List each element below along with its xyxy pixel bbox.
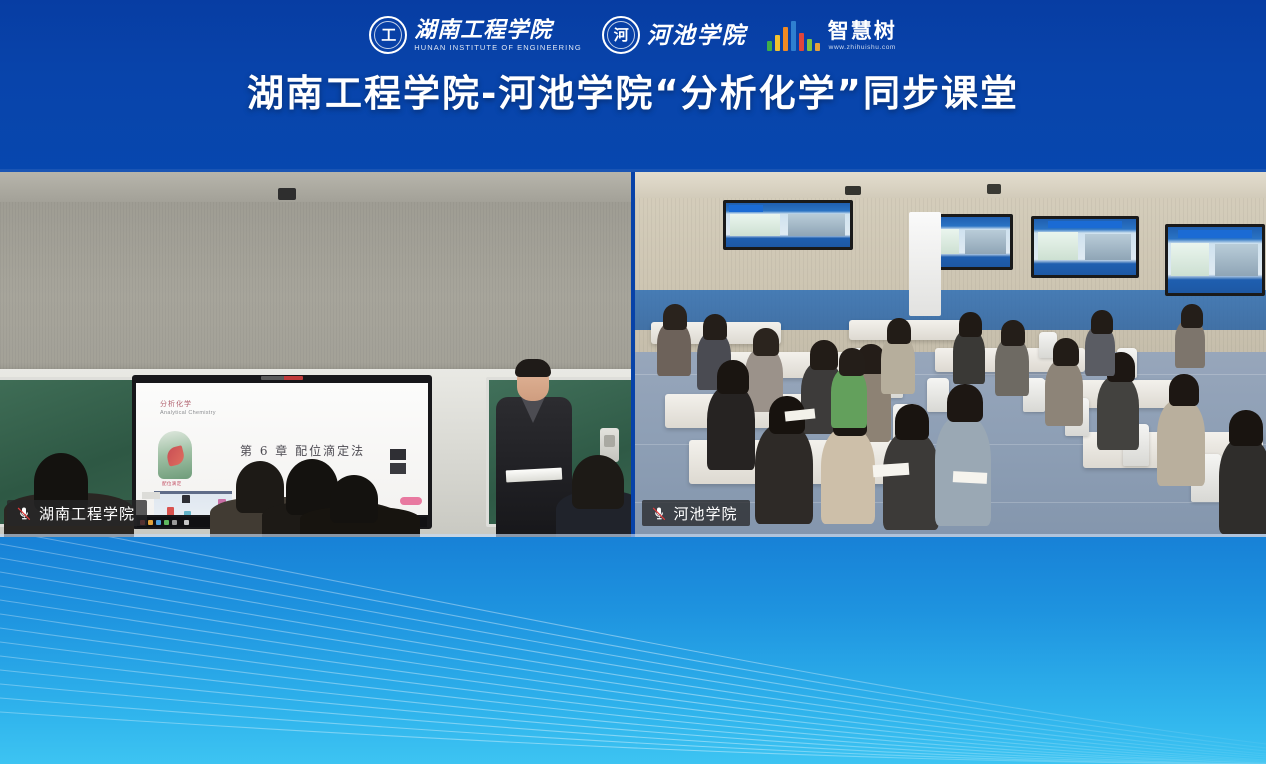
video-pane-hechi[interactable]: 河池学院 xyxy=(635,172,1266,537)
zhihuishu-url: www.zhihuishu.com xyxy=(829,44,896,51)
hechi-university-seal-glyph: 河 xyxy=(614,28,628,43)
hechi-university-seal-icon: 河 xyxy=(602,16,640,54)
student-head xyxy=(1229,410,1263,446)
slide-pill-badge xyxy=(400,497,422,505)
student-head xyxy=(1091,310,1113,334)
student-body xyxy=(995,338,1029,396)
student-body xyxy=(1097,376,1139,450)
student-body xyxy=(1157,400,1205,486)
wall-display-4 xyxy=(1165,224,1265,296)
student-body xyxy=(881,336,915,394)
student-head xyxy=(810,340,838,370)
student-body xyxy=(953,330,985,384)
broadcast-stage: 工 湖南工程学院 HUNAN INSTITUTE OF ENGINEERING … xyxy=(0,0,1266,764)
discussion-classroom xyxy=(635,172,1266,537)
slide-course-name-cn: 分析化学 xyxy=(160,399,192,409)
source-label-hechi-text: 河池学院 xyxy=(674,503,738,524)
ceiling-speaker-icon xyxy=(987,184,1001,194)
hunan-institute-seal-icon: 工 xyxy=(369,16,407,54)
logo-zhihuishu: 智慧树 www.zhihuishu.com xyxy=(767,20,897,51)
page-header: 工 湖南工程学院 HUNAN INSTITUTE OF ENGINEERING … xyxy=(0,0,1266,172)
student-body xyxy=(755,424,813,524)
student-body xyxy=(1045,360,1083,426)
source-label-hunan: 湖南工程学院 xyxy=(7,500,147,526)
student-body xyxy=(1219,438,1266,534)
worksheet-paper xyxy=(952,471,987,484)
student-head xyxy=(1169,374,1199,406)
zhihuishu-name-cn: 智慧树 xyxy=(828,20,897,41)
audience-head-4 xyxy=(330,475,378,523)
ceiling-strip xyxy=(0,172,632,202)
wall-display-1 xyxy=(723,200,853,250)
classroom-ceiling xyxy=(635,172,1266,198)
slide-ui-badge-2 xyxy=(390,463,406,474)
worksheet-paper xyxy=(872,463,909,477)
student-head xyxy=(663,304,687,330)
logo-bar: 工 湖南工程学院 HUNAN INSTITUTE OF ENGINEERING … xyxy=(0,11,1266,59)
source-label-hechi: 河池学院 xyxy=(642,500,750,526)
student-body xyxy=(657,322,691,376)
slide-course-name-en: Analytical Chemistry xyxy=(160,410,216,416)
mobile-whiteboard xyxy=(909,212,941,316)
student-head xyxy=(717,360,749,394)
student-head xyxy=(895,404,929,440)
video-grid-underline xyxy=(0,534,1266,537)
microphone-muted-icon xyxy=(16,505,32,522)
student-body xyxy=(821,428,875,524)
logo-hechi-name-cn: 河池学院 xyxy=(647,24,747,47)
page-title: 湖南工程学院-河池学院“分析化学”同步课堂 xyxy=(0,63,1266,117)
student-body xyxy=(831,368,867,428)
student-head xyxy=(1001,320,1025,346)
whiteboard-indicator-strip xyxy=(261,376,303,380)
logo-hechi-university: 河 河池学院 xyxy=(602,16,747,54)
student-head xyxy=(839,348,865,376)
video-grid-divider xyxy=(631,172,635,537)
logo-hunan-name-cn: 湖南工程学院 xyxy=(414,19,582,41)
student-head xyxy=(1053,338,1079,366)
slide-chapter-headline: 第 6 章 配位滴定法 xyxy=(240,442,365,459)
student-head xyxy=(887,318,911,344)
student-head xyxy=(959,312,982,337)
slide-leaf-label: 配位滴定 xyxy=(162,481,182,487)
hunan-institute-seal-glyph: 工 xyxy=(381,28,395,43)
zhihuishu-bars-icon xyxy=(767,21,820,51)
logo-hunan-name-en: HUNAN INSTITUTE OF ENGINEERING xyxy=(414,44,582,52)
student-body xyxy=(707,386,755,470)
ceiling-microphone-icon xyxy=(278,188,296,200)
student-head xyxy=(947,384,983,422)
video-pane-hunan[interactable]: 6. 配位滴定法 分析化学 Analytical Chemistry 配位滴定 … xyxy=(0,172,632,537)
wall-display-3 xyxy=(1031,216,1139,278)
slide-tool-chip xyxy=(142,492,160,499)
student-head xyxy=(1181,304,1203,328)
slide-ui-badge-1 xyxy=(390,449,406,460)
audience-head-5 xyxy=(572,455,624,509)
microphone-muted-icon xyxy=(651,505,667,522)
student-body xyxy=(883,432,939,530)
student-head xyxy=(703,314,727,340)
student-head xyxy=(753,328,779,356)
ceiling-microphone-icon-right xyxy=(845,186,861,195)
source-label-hunan-text: 湖南工程学院 xyxy=(39,503,135,524)
slide-leaf-graphic xyxy=(158,431,192,479)
logo-hunan-institute-of-engineering: 工 湖南工程学院 HUNAN INSTITUTE OF ENGINEERING xyxy=(369,16,582,54)
chair xyxy=(927,378,949,412)
